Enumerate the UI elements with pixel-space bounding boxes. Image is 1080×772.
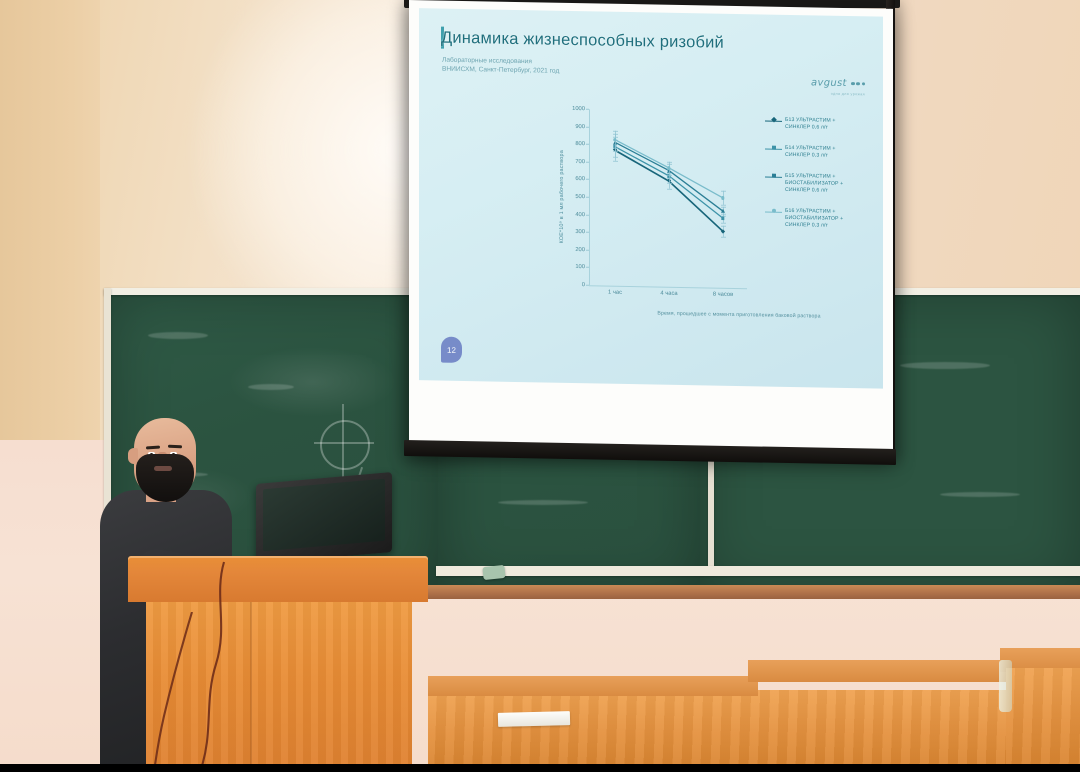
error-bar-cap: [667, 177, 672, 178]
line-chart: КОЕ*10⁹ в 1 мл рабочего раствора 1000900…: [527, 102, 867, 338]
y-axis-tick-label: 600: [575, 176, 585, 182]
error-bar-cap: [721, 207, 726, 208]
desk-surface-left: [428, 676, 758, 696]
legend-label: Б13 УЛЬТРАСТИМ +СИНКЛЕР 0,6 л/т: [785, 117, 865, 132]
error-bar-cap: [613, 148, 618, 149]
y-axis-tick-label: 0: [582, 282, 585, 288]
y-axis-tick-label: 1000: [572, 106, 585, 112]
error-bar-cap: [721, 226, 726, 227]
chalkboard-frame-top-left: [104, 288, 442, 295]
legend-label-line: СИНКЛЕР 0,6 л/т: [785, 187, 865, 195]
x-axis-label: Время, прошедшее с момента приготовления…: [589, 309, 883, 320]
y-axis-tick-label: 800: [575, 141, 585, 147]
podium-top-surface: [128, 556, 428, 602]
chart-legend: Б13 УЛЬТРАСТИМ +СИНКЛЕР 0,6 л/тБ14 УЛЬТР…: [765, 117, 865, 245]
data-point: [721, 216, 724, 219]
lecture-hall-photo: Динамика жизнеспособных ризобий Лаборато…: [0, 0, 1080, 772]
error-bar-cap: [721, 191, 726, 192]
error-bar-cap: [667, 189, 672, 190]
legend-item: Б16 УЛЬТРАСТИМ +БИОСТАБИЛИЗАТОР +СИНКЛЕР…: [765, 208, 865, 231]
monitor-display: [263, 479, 385, 552]
error-bar-cap: [721, 223, 726, 224]
plot-area: 100090080070060050040030020010001 час4 ч…: [589, 109, 747, 288]
avgust-logo: avgust одна для урожая: [811, 71, 865, 96]
error-bar-cap: [613, 151, 618, 152]
y-axis-tick-label: 400: [575, 212, 585, 218]
presenter-mouth: [154, 466, 172, 471]
error-bar-cap: [667, 174, 672, 175]
x-axis-tick-label: 1 час: [608, 290, 622, 296]
logo-tagline: одна для урожая: [811, 91, 865, 96]
y-axis-tick-label: 200: [575, 247, 585, 253]
board-eraser: [482, 565, 505, 580]
chalk-circle-mark: [320, 420, 370, 470]
legend-label-line: СИНКЛЕР 0,6 л/т: [785, 124, 865, 132]
error-bar-cap: [613, 156, 618, 157]
y-axis-label: КОЕ*10⁹ в 1 мл рабочего раствора: [559, 109, 565, 285]
legend-label: Б14 УЛЬТРАСТИМ +СИНКЛЕР 0,3 л/т: [785, 145, 865, 160]
desk-row-front: [428, 690, 1080, 772]
error-bar-cap: [667, 183, 672, 184]
presenter-monitor: [256, 478, 406, 564]
paper-sheet: [498, 711, 570, 727]
legend-item: Б15 УЛЬТРАСТИМ +БИОСТАБИЛИЗАТОР +СИНКЛЕР…: [765, 173, 865, 196]
logo-wordmark: avgust: [811, 77, 847, 89]
subtitle-line-2: ВНИИСХМ, Санкт-Петербург, 2021 год: [442, 65, 559, 76]
y-axis-tick-label: 300: [575, 229, 585, 235]
desk-panel-right: [1006, 668, 1080, 772]
slide-title: Динамика жизнеспособных ризобий: [441, 29, 724, 53]
data-point: [721, 209, 725, 213]
legend-marker: [772, 174, 776, 178]
y-axis-tick-label: 100: [575, 264, 585, 270]
projection-screen: Динамика жизнеспособных ризобий Лаборато…: [409, 0, 893, 461]
chalkboard-rail: [436, 566, 1080, 576]
x-axis-tick-label: 4 часа: [660, 291, 677, 297]
water-bottle: [999, 660, 1012, 712]
desk-surface-mid: [748, 660, 1010, 682]
error-bar-cap: [721, 237, 726, 238]
error-bar-cap: [721, 205, 726, 206]
legend-item: Б14 УЛЬТРАСТИМ +СИНКЛЕР 0,3 л/т: [765, 145, 865, 161]
legend-label-line: СИНКЛЕР 0,3 л/т: [785, 152, 865, 160]
power-cable-floor: [120, 612, 200, 772]
podium-panel-seam: [250, 602, 252, 772]
legend-marker: [772, 146, 776, 150]
y-axis-tick-label: 500: [575, 194, 585, 200]
y-axis-tick-label: 700: [575, 159, 585, 165]
y-axis-tick-label: 900: [575, 124, 585, 130]
slide-page-badge: 12: [441, 337, 462, 363]
error-bar-cap: [613, 161, 618, 162]
legend-label: Б16 УЛЬТРАСТИМ +БИОСТАБИЛИЗАТОР +СИНКЛЕР…: [785, 208, 865, 230]
legend-label: Б15 УЛЬТРАСТИМ +БИОСТАБИЛИЗАТОР +СИНКЛЕР…: [785, 173, 865, 195]
photo-bottom-edge: [0, 764, 1080, 772]
page-number: 12: [447, 345, 456, 354]
error-bar-cap: [667, 162, 672, 163]
legend-marker: [771, 117, 777, 123]
presentation-slide: Динамика жизнеспособных ризобий Лаборато…: [419, 8, 883, 389]
legend-label-line: СИНКЛЕР 0,3 л/т: [785, 222, 865, 230]
error-bar-cap: [721, 216, 726, 217]
legend-item: Б13 УЛЬТРАСТИМ +СИНКЛЕР 0,6 л/т: [765, 117, 865, 133]
error-bar-cap: [613, 131, 618, 132]
logo-dots-icon: [850, 72, 865, 90]
slide-subtitle: Лабораторные исследования ВНИИСХМ, Санкт…: [442, 57, 559, 76]
x-axis-tick-label: 8 часов: [713, 292, 733, 298]
